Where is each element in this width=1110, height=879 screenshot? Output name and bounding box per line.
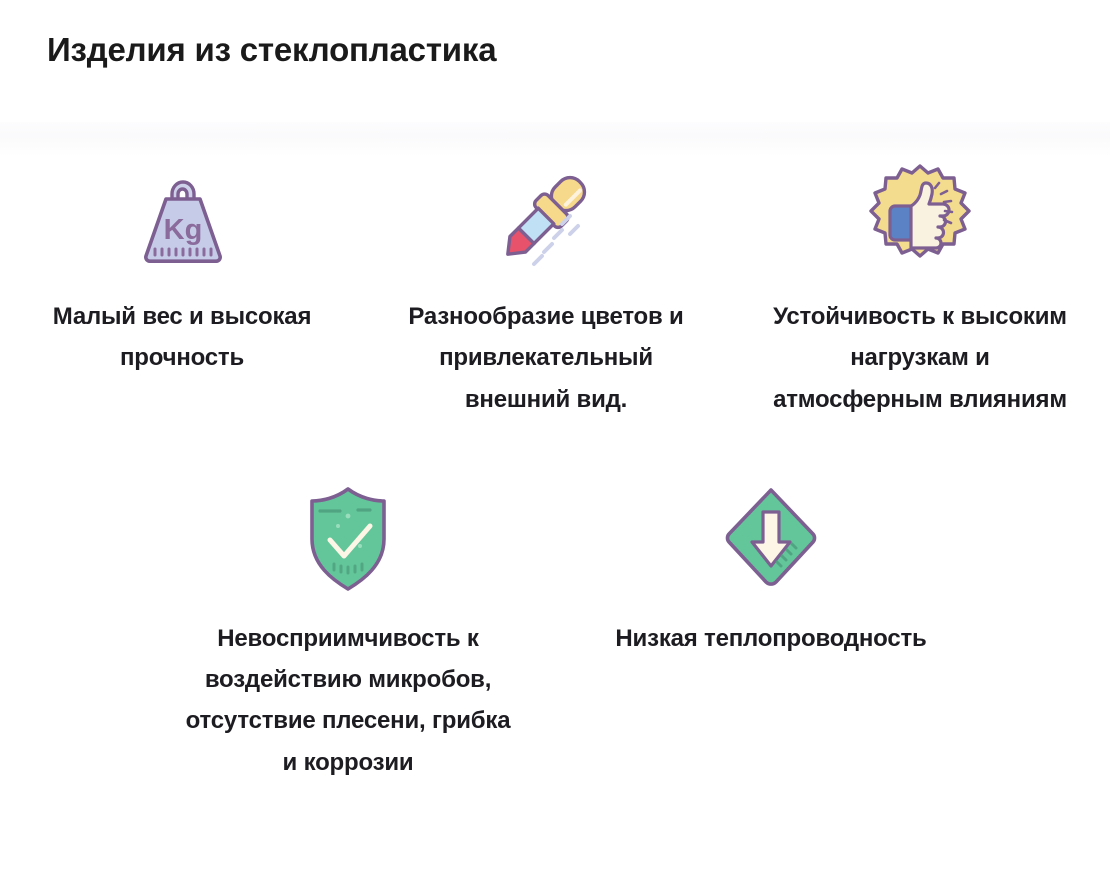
feature-row-top: Kg Малый вес и высокая прочн: [0, 160, 1110, 420]
feature-label: Низкая теплопроводность: [615, 618, 926, 659]
page-title: Изделия из стеклопластика: [47, 30, 1110, 70]
feature-label: Малый вес и высокая прочность: [27, 296, 337, 379]
shield-check-icon: [296, 482, 400, 594]
page-header: Изделия из стеклопластика: [0, 0, 1110, 122]
feature-card-load-resistance: Устойчивость к высоким нагрузкам и атмос…: [741, 160, 1099, 420]
feature-card-low-conductivity: Низкая теплопроводность: [592, 482, 950, 659]
header-divider: [0, 122, 1110, 156]
feature-label: Устойчивость к высоким нагрузкам и атмос…: [765, 296, 1075, 420]
svg-text:Kg: Kg: [164, 214, 203, 246]
bottom-spacer: [0, 783, 1110, 843]
feature-card-microbe-resistance: Невосприимчивость к воздействию микробов…: [169, 482, 527, 783]
feature-label: Невосприимчивость к воздействию микробов…: [183, 618, 513, 783]
down-arrow-diamond-icon: [719, 482, 823, 594]
eyedropper-icon: [494, 160, 598, 272]
feature-card-color-variety: Разнообразие цветов и привлекательный вн…: [367, 160, 725, 420]
features-section: Kg Малый вес и высокая прочн: [0, 160, 1110, 843]
thumbs-up-badge-icon: [865, 160, 975, 272]
feature-label: Разнообразие цветов и привлекательный вн…: [391, 296, 701, 420]
feature-row-bottom: Невосприимчивость к воздействию микробов…: [0, 482, 1110, 783]
weight-kg-icon: Kg: [130, 160, 234, 272]
feature-card-low-weight: Kg Малый вес и высокая прочн: [3, 160, 361, 379]
